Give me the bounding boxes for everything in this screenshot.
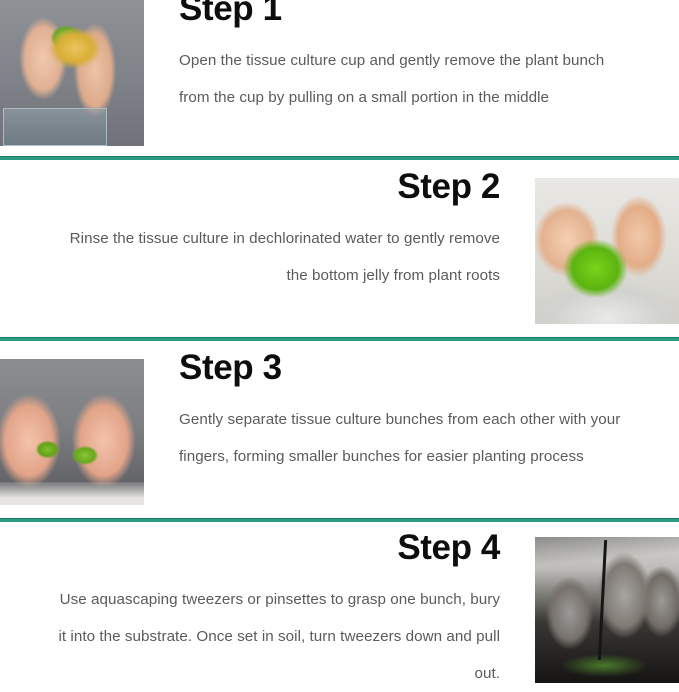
step-1-photo — [0, 0, 144, 146]
step-3-image — [0, 359, 144, 505]
instruction-steps-page: Step 1 Open the tissue culture cup and g… — [0, 0, 679, 683]
step-1-text: Open the tissue culture cup and gently r… — [179, 42, 629, 116]
step-2-title: Step 2 — [50, 168, 500, 206]
step-card-1: Step 1 Open the tissue culture cup and g… — [0, 0, 679, 158]
step-4-image — [535, 537, 679, 683]
step-3-photo — [0, 359, 144, 505]
step-1-body: Step 1 Open the tissue culture cup and g… — [179, 0, 629, 116]
step-2-body: Step 2 Rinse the tissue culture in dechl… — [50, 168, 500, 294]
step-4-text: Use aquascaping tweezers or pinsettes to… — [50, 581, 500, 692]
step-4-body: Step 4 Use aquascaping tweezers or pinse… — [50, 529, 500, 692]
step-card-2: Step 2 Rinse the tissue culture in dechl… — [0, 168, 679, 338]
divider-1 — [0, 156, 679, 160]
divider-2 — [0, 337, 679, 341]
step-3-text: Gently separate tissue culture bunches f… — [179, 401, 629, 475]
step-2-image — [535, 178, 679, 324]
step-1-title: Step 1 — [179, 0, 629, 28]
step-card-3: Step 3 Gently separate tissue culture bu… — [0, 349, 679, 519]
step-2-text: Rinse the tissue culture in dechlorinate… — [50, 220, 500, 294]
step-3-title: Step 3 — [179, 349, 629, 387]
step-3-body: Step 3 Gently separate tissue culture bu… — [179, 349, 629, 475]
divider-3 — [0, 518, 679, 522]
step-card-4: Step 4 Use aquascaping tweezers or pinse… — [0, 529, 679, 683]
step-1-image — [0, 0, 144, 146]
step-4-photo — [535, 537, 679, 683]
step-2-photo — [535, 178, 679, 324]
step-4-title: Step 4 — [50, 529, 500, 567]
